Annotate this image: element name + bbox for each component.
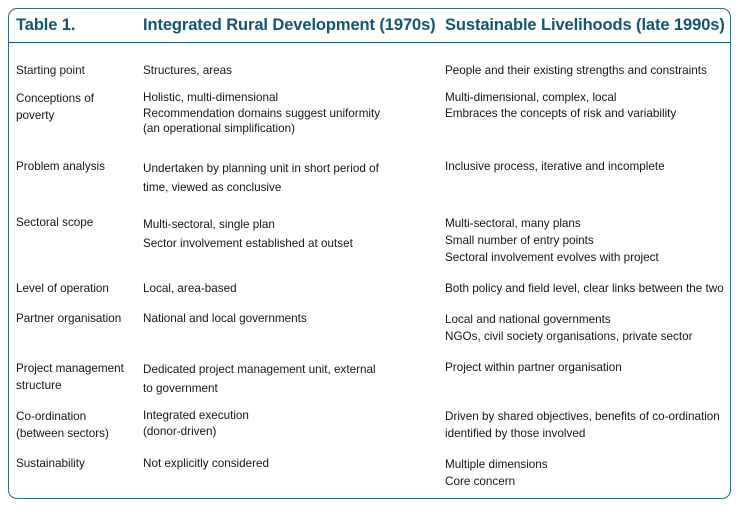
cell-line: Embraces the concepts of risk and variab… (445, 106, 731, 122)
table-cell-criterion: Co-ordination(between sectors) (16, 408, 144, 442)
table-cell-sl: Multi-dimensional, complex, localEmbrace… (445, 90, 731, 121)
cell-line: to government (143, 379, 439, 398)
cell-line: Multiple dimensions (445, 456, 731, 473)
table-cell-criterion: Sectoral scope (16, 215, 144, 231)
table-cell-criterion: Conceptions ofpoverty (16, 90, 144, 124)
table-cell-ird: Undertaken by planning unit in short per… (143, 159, 439, 197)
cell-line: Sectoral involvement evolves with projec… (445, 249, 731, 266)
cell-line: Dedicated project management unit, exter… (143, 360, 439, 379)
cell-line: National and local governments (143, 311, 439, 327)
cell-line: NGOs, civil society organisations, priva… (445, 328, 731, 345)
table-cell-sl: Project within partner organisation (445, 360, 731, 376)
table-cell-sl: Multiple dimensionsCore concern (445, 456, 731, 490)
table-cell-criterion: Problem analysis (16, 159, 144, 175)
table-cell-ird: National and local governments (143, 311, 439, 327)
cell-line: Holistic, multi-dimensional (143, 90, 439, 106)
cell-line: Small number of entry points (445, 232, 731, 249)
cell-line: Level of operation (16, 281, 144, 297)
cell-line: People and their existing strengths and … (445, 63, 731, 79)
cell-line: Co-ordination (16, 408, 144, 425)
cell-line: (between sectors) (16, 425, 144, 442)
table-cell-criterion: Level of operation (16, 281, 144, 297)
cell-line: Sustainability (16, 456, 144, 472)
cell-line: Project within partner organisation (445, 360, 731, 376)
cell-line: poverty (16, 107, 144, 124)
column-header-sustainable-livelihoods: Sustainable Livelihoods (late 1990s) (445, 16, 725, 35)
cell-line: Recommendation domains suggest uniformit… (143, 106, 439, 122)
cell-line: Integrated execution (143, 408, 439, 424)
table-container: Table 1. Integrated Rural Development (1… (8, 8, 731, 499)
cell-line: (donor-driven) (143, 424, 439, 440)
table-cell-sl: Local and national governmentsNGOs, civi… (445, 311, 731, 345)
table-cell-criterion: Project managementstructure (16, 360, 144, 394)
table-cell-sl: Inclusive process, iterative and incompl… (445, 159, 731, 175)
cell-line: Partner organisation (16, 311, 144, 327)
cell-line: Local, area-based (143, 281, 439, 297)
cell-line: Sectoral scope (16, 215, 144, 231)
cell-line: time, viewed as conclusive (143, 178, 439, 197)
cell-line: Project management (16, 360, 144, 377)
table-cell-ird: Multi-sectoral, single planSector involv… (143, 215, 439, 253)
cell-line: identified by those involved (445, 425, 731, 442)
table-body: Starting pointStructures, areasPeople an… (9, 43, 730, 498)
table-cell-ird: Integrated execution(donor-driven) (143, 408, 439, 439)
cell-line: Not explicitly considered (143, 456, 439, 472)
table-cell-ird: Holistic, multi-dimensionalRecommendatio… (143, 90, 439, 137)
cell-line: Core concern (445, 473, 731, 490)
cell-line: (an operational simplification) (143, 121, 439, 137)
cell-line: Multi-sectoral, many plans (445, 215, 731, 232)
table-cell-ird: Dedicated project management unit, exter… (143, 360, 439, 398)
cell-line: structure (16, 377, 144, 394)
table-cell-sl: Both policy and field level, clear links… (445, 281, 731, 297)
cell-line: Conceptions of (16, 90, 144, 107)
table-header-row: Table 1. Integrated Rural Development (1… (9, 9, 730, 43)
cell-line: Local and national governments (445, 311, 731, 328)
table-cell-ird: Structures, areas (143, 63, 439, 79)
cell-line: Driven by shared objectives, benefits of… (445, 408, 731, 425)
table-caption-label: Table 1. (16, 16, 75, 35)
cell-line: Both policy and field level, clear links… (445, 281, 731, 297)
cell-line: Problem analysis (16, 159, 144, 175)
cell-line: Undertaken by planning unit in short per… (143, 159, 439, 178)
cell-line: Multi-dimensional, complex, local (445, 90, 731, 106)
cell-line: Starting point (16, 63, 144, 79)
cell-line: Structures, areas (143, 63, 439, 79)
table-cell-sl: Driven by shared objectives, benefits of… (445, 408, 731, 442)
table-cell-ird: Not explicitly considered (143, 456, 439, 472)
cell-line: Inclusive process, iterative and incompl… (445, 159, 731, 175)
table-cell-sl: People and their existing strengths and … (445, 63, 731, 79)
table-cell-criterion: Sustainability (16, 456, 144, 472)
table-cell-criterion: Partner organisation (16, 311, 144, 327)
column-header-integrated-rural-development: Integrated Rural Development (1970s) (143, 16, 436, 35)
table-cell-sl: Multi-sectoral, many plansSmall number o… (445, 215, 731, 266)
cell-line: Multi-sectoral, single plan (143, 215, 439, 234)
table-cell-criterion: Starting point (16, 63, 144, 79)
cell-line: Sector involvement established at outset (143, 234, 439, 253)
table-cell-ird: Local, area-based (143, 281, 439, 297)
